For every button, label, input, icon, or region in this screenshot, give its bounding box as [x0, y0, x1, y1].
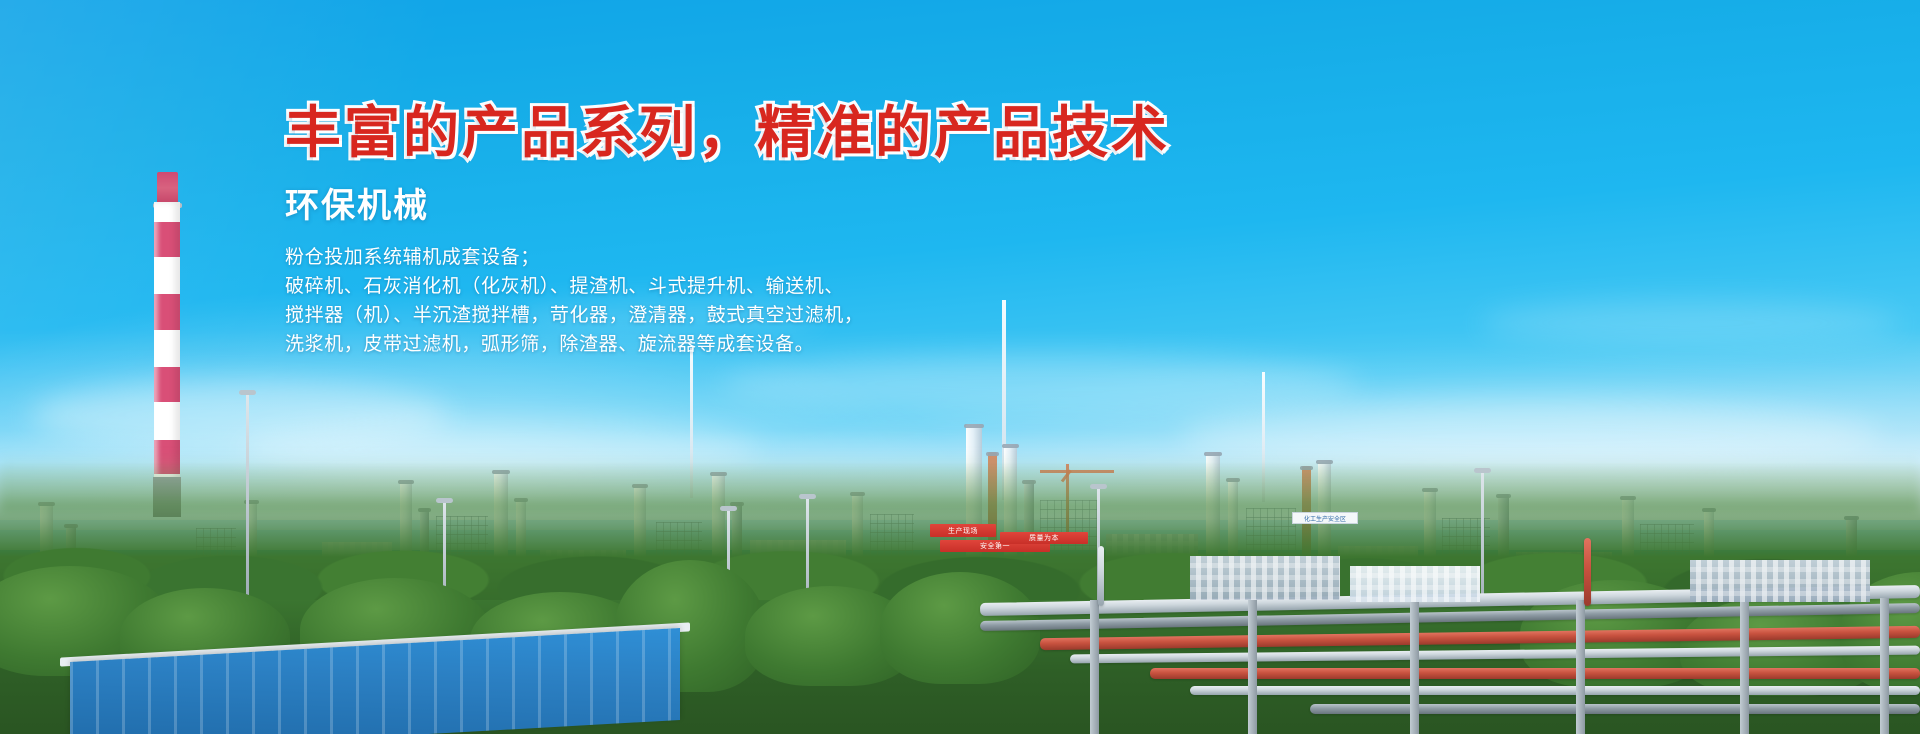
pipeline-rack — [980, 520, 1920, 734]
pipe-support — [1576, 600, 1585, 734]
pipe — [1070, 646, 1920, 664]
description-line: 搅拌器（机）、半沉渣搅拌槽，苛化器，澄清器，鼓式真空过滤机， — [285, 301, 1285, 330]
light-pole-head — [799, 494, 816, 499]
plant-building — [1350, 566, 1480, 602]
light-pole-head — [1090, 484, 1107, 489]
pipe — [1190, 686, 1920, 695]
pipe-support — [1410, 600, 1419, 734]
pipe-support — [1248, 600, 1257, 734]
riser-pipe — [1098, 546, 1104, 606]
light-pole-head — [720, 506, 737, 511]
banner-description: 粉仓投加系统辅机成套设备； 破碎机、石灰消化机（化灰机）、提渣机、斗式提升机、输… — [285, 243, 1285, 359]
description-line: 粉仓投加系统辅机成套设备； — [285, 243, 1285, 272]
banner-headline: 丰富的产品系列，精准的产品技术 — [285, 104, 1285, 164]
pipe-support — [1880, 598, 1889, 734]
light-pole-head — [239, 390, 256, 395]
description-line: 洗浆机，皮带过滤机，弧形筛，除渣器、旋流器等成套设备。 — [285, 330, 1285, 359]
pipe-support — [1740, 600, 1749, 734]
pipe-support — [1090, 600, 1099, 734]
light-pole-head — [436, 498, 453, 503]
plant-building — [1190, 556, 1340, 600]
hero-banner: 生产现场 安全第一 质量为本 化工生产安全区 丰富的产品系列，精 — [0, 0, 1920, 734]
pipe-red — [1150, 668, 1920, 679]
light-pole-head — [1474, 468, 1491, 473]
smokestack-cap — [157, 172, 178, 204]
plant-building — [1690, 560, 1870, 602]
description-line: 破碎机、石灰消化机（化灰机）、提渣机、斗式提升机、输送机、 — [285, 272, 1285, 301]
riser-pipe — [1584, 538, 1591, 606]
light-pole — [246, 392, 249, 622]
banner-subhead: 环保机械 — [285, 178, 1285, 227]
pipe — [1310, 704, 1920, 714]
banner-copy: 丰富的产品系列，精准的产品技术 环保机械 粉仓投加系统辅机成套设备； 破碎机、石… — [285, 104, 1285, 359]
